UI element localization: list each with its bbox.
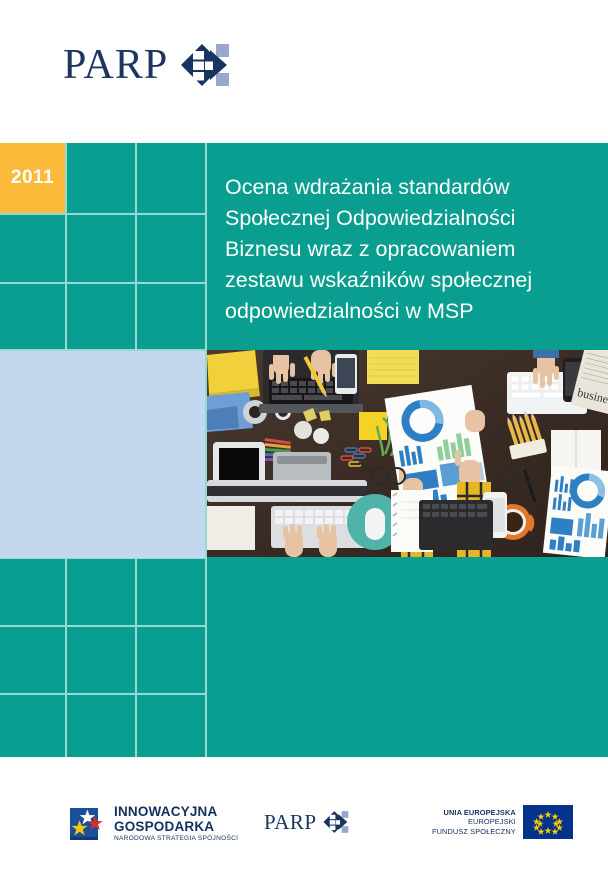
- eu-line-3: FUNDUSZ SPOŁECZNY: [432, 827, 516, 836]
- accent-block-light-blue: [0, 351, 205, 558]
- parp-logo-footer: PARP: [264, 807, 353, 837]
- innowacyjna-gospodarka-logo: INNOWACYJNA GOSPODARKA NARODOWA STRATEGI…: [70, 805, 238, 843]
- stars-icon: [70, 806, 106, 842]
- grid-line-horizontal: [0, 625, 207, 627]
- parp-diamond-icon: [180, 36, 238, 94]
- parp-logo: PARP: [63, 36, 238, 94]
- title-line: odpowiedzialności w MSP: [225, 296, 595, 327]
- grid-line-horizontal: [0, 282, 207, 284]
- title-line: Biznesu wraz z opracowaniem: [225, 234, 595, 265]
- cover-footer: INNOWACYJNA GOSPODARKA NARODOWA STRATEGI…: [0, 757, 608, 871]
- eu-flag-icon: [523, 805, 573, 839]
- parp-wordmark: PARP: [63, 44, 168, 86]
- year-label: 2011: [11, 167, 54, 189]
- page-title: Ocena wdrażania standardów Społecznej Od…: [225, 172, 595, 327]
- ig-line-1: INNOWACYJNA: [114, 805, 238, 819]
- eu-line-1: UNIA EUROPEJSKA: [432, 808, 516, 817]
- desk-scene-illustration: business: [207, 350, 608, 557]
- ig-line-2: GOSPODARKA: [114, 820, 238, 834]
- eu-line-2: EUROPEJSKI: [432, 817, 516, 826]
- ig-line-3: NARODOWA STRATEGIA SPÓJNOŚCI: [114, 836, 238, 843]
- title-line: zestawu wskaźników społecznej: [225, 265, 595, 296]
- parp-diamond-icon-footer: [323, 807, 353, 837]
- year-badge: 2011: [0, 143, 65, 213]
- grid-line-horizontal: [0, 693, 207, 695]
- european-union-logo: UNIA EUROPEJSKA EUROPEJSKI FUNDUSZ SPOŁE…: [432, 805, 573, 839]
- title-line: Społecznej Odpowiedzialności: [225, 203, 595, 234]
- title-line: Ocena wdrażania standardów: [225, 172, 595, 203]
- parp-wordmark-footer: PARP: [264, 812, 317, 833]
- cover-header: PARP: [0, 0, 608, 143]
- cover-photo: business: [207, 350, 608, 557]
- grid-line-horizontal: [0, 213, 207, 215]
- document-cover: PARP: [0, 0, 608, 871]
